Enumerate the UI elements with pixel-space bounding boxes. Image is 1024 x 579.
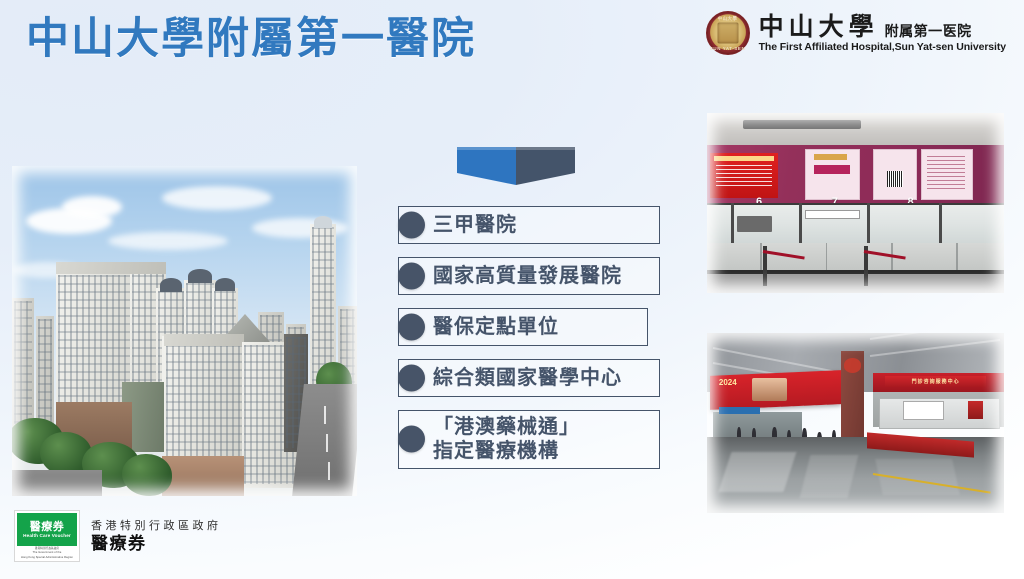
base-panel-line [826,243,828,272]
dome-roof [188,269,212,283]
tower-cornice [56,262,166,274]
poster-title-bar [714,156,773,161]
list-item-box[interactable]: 國家高質量發展醫院 [398,257,660,295]
voucher-badge-en: Health Care Voucher [23,534,71,539]
voucher-badge-green: 醫療券 Health Care Voucher [17,513,77,546]
tree [122,454,172,496]
price-notice-lines [927,156,966,188]
brand-name-row: 中山大學 附属第一医院 [759,14,1006,39]
list-item-label: 國家高質量發展醫院 [433,264,622,288]
list-item-box[interactable]: 三甲醫院 [398,206,660,244]
voucher-badge-note: 香港特別行政區政府 The Government of the Hong Kon… [17,546,77,559]
brand-name-cn: 中山大學 [759,14,879,39]
list-item[interactable]: 國家高質量發展醫院 [398,257,660,295]
front-podium [162,456,244,496]
tower-roof [314,216,332,228]
glass-mullion [731,203,734,244]
funnel-shape [457,147,575,189]
front-tower-cap [164,334,244,346]
brand-name-cn-sub: 附属第一医院 [885,24,972,39]
base-panel-line [760,243,762,272]
bullet-dot-icon [398,426,425,453]
funnel-left-face [457,147,516,185]
floor [707,270,1004,293]
bullet-dot-icon [398,263,425,290]
voucher-text-block: 香港特別行政區政府 醫療券 [91,521,222,552]
banner-year: 2024 [719,378,746,392]
dome-roof [215,278,235,291]
road-marking [324,406,326,424]
cloud [62,196,122,218]
counter-notice [805,210,860,219]
list-item[interactable]: 綜合類國家醫學中心 [398,359,660,397]
list-item[interactable]: 醫保定點單位 [398,308,660,346]
brand-text-block: 中山大學 附属第一医院 The First Affiliated Hospita… [759,14,1006,53]
voucher-name-line: 醫療券 [91,535,222,552]
list-item-label: 醫保定點單位 [433,315,559,339]
service-counter-photo: 6 7 8 [707,113,1004,293]
credentials-list: 三甲醫院 國家高質量發展醫院 醫保定點單位 綜合類國家醫學中心 「港澳藥械通」 [398,206,660,482]
voucher-badge: 醫療券 Health Care Voucher 香港特別行政區政府 The Go… [14,510,80,562]
voucher-badge-cn: 醫療券 [30,521,65,532]
hospital-brand-logo: 中山大學 SUN YAT-SEN 中山大學 附属第一医院 The First A… [706,11,1006,55]
health-care-voucher-logo: 醫療券 Health Care Voucher 香港特別行政區政府 The Go… [14,510,222,562]
funnel-svg [457,147,575,189]
banner-portrait [752,378,788,401]
base-panel-line [956,243,958,272]
list-item-box[interactable]: 醫保定點單位 [398,308,648,346]
wayfinding-sign [719,407,761,414]
list-item[interactable]: 三甲醫院 [398,206,660,244]
voucher-government-line: 香港特別行政區政府 [91,521,222,532]
building [12,298,34,428]
counter-notice-board [903,401,944,419]
list-item-label: 「港澳藥械通」 指定醫療機構 [433,415,580,464]
glass-mullion [939,203,942,244]
floor-reflection [718,452,796,492]
dome-roof [160,278,182,292]
university-seal-icon: 中山大學 SUN YAT-SEN [706,11,750,55]
info-centre-sign: 門診咨詢服務中心 [885,376,986,387]
slide-root: 中山大學附屬第一醫院 中山大學 SUN YAT-SEN 中山大學 附属第一医院 … [0,0,1024,579]
cloud [108,232,228,250]
banner-year-2 [796,382,823,396]
glass-mullion [799,203,802,244]
poster-table [716,165,772,187]
bullet-dot-icon [398,365,425,392]
road-marking [326,434,328,452]
glass-mullion [867,203,870,244]
building [36,316,54,428]
road [12,470,102,496]
list-item[interactable]: 「港澳藥械通」 指定醫療機構 [398,410,660,469]
list-item-label: 綜合類國家醫學中心 [433,366,622,390]
voucher-note-line-2: The Government of the [33,551,62,554]
list-item-box[interactable]: 「港澳藥械通」 指定醫療機構 [398,410,660,469]
campus-aerial-photo [12,166,357,496]
road [292,384,357,496]
voucher-note-line-1: 香港特別行政區政府 [35,547,59,550]
cloud [162,186,272,210]
pillar-decoration [844,358,862,372]
list-item-label: 三甲醫院 [433,213,517,237]
road-marking [328,462,330,480]
bullet-dot-icon [398,314,425,341]
service-point-sign-text [814,165,850,174]
qr-code [887,171,903,187]
service-point-sign-logo [814,154,847,159]
bullet-dot-icon [398,212,425,239]
seal-top-text: 中山大學 [707,16,749,22]
red-standee [968,401,983,419]
page-title: 中山大學附屬第一醫院 [26,16,476,63]
ceiling-vent [743,120,862,129]
voucher-note-line-3: Hong Kong Special Administrative Region [21,556,73,559]
funnel-right-face [516,147,575,185]
outpatient-lobby-photo: 2024 門診咨詢服務中心 [707,333,1004,513]
brand-name-en: The First Affiliated Hospital,Sun Yat-se… [759,42,1006,53]
seal-bottom-text: SUN YAT-SEN [707,46,749,51]
funnel-top-face [457,147,575,150]
list-item-box[interactable]: 綜合類國家醫學中心 [398,359,660,397]
counter-base [707,243,1004,272]
counter-equipment [737,216,773,232]
